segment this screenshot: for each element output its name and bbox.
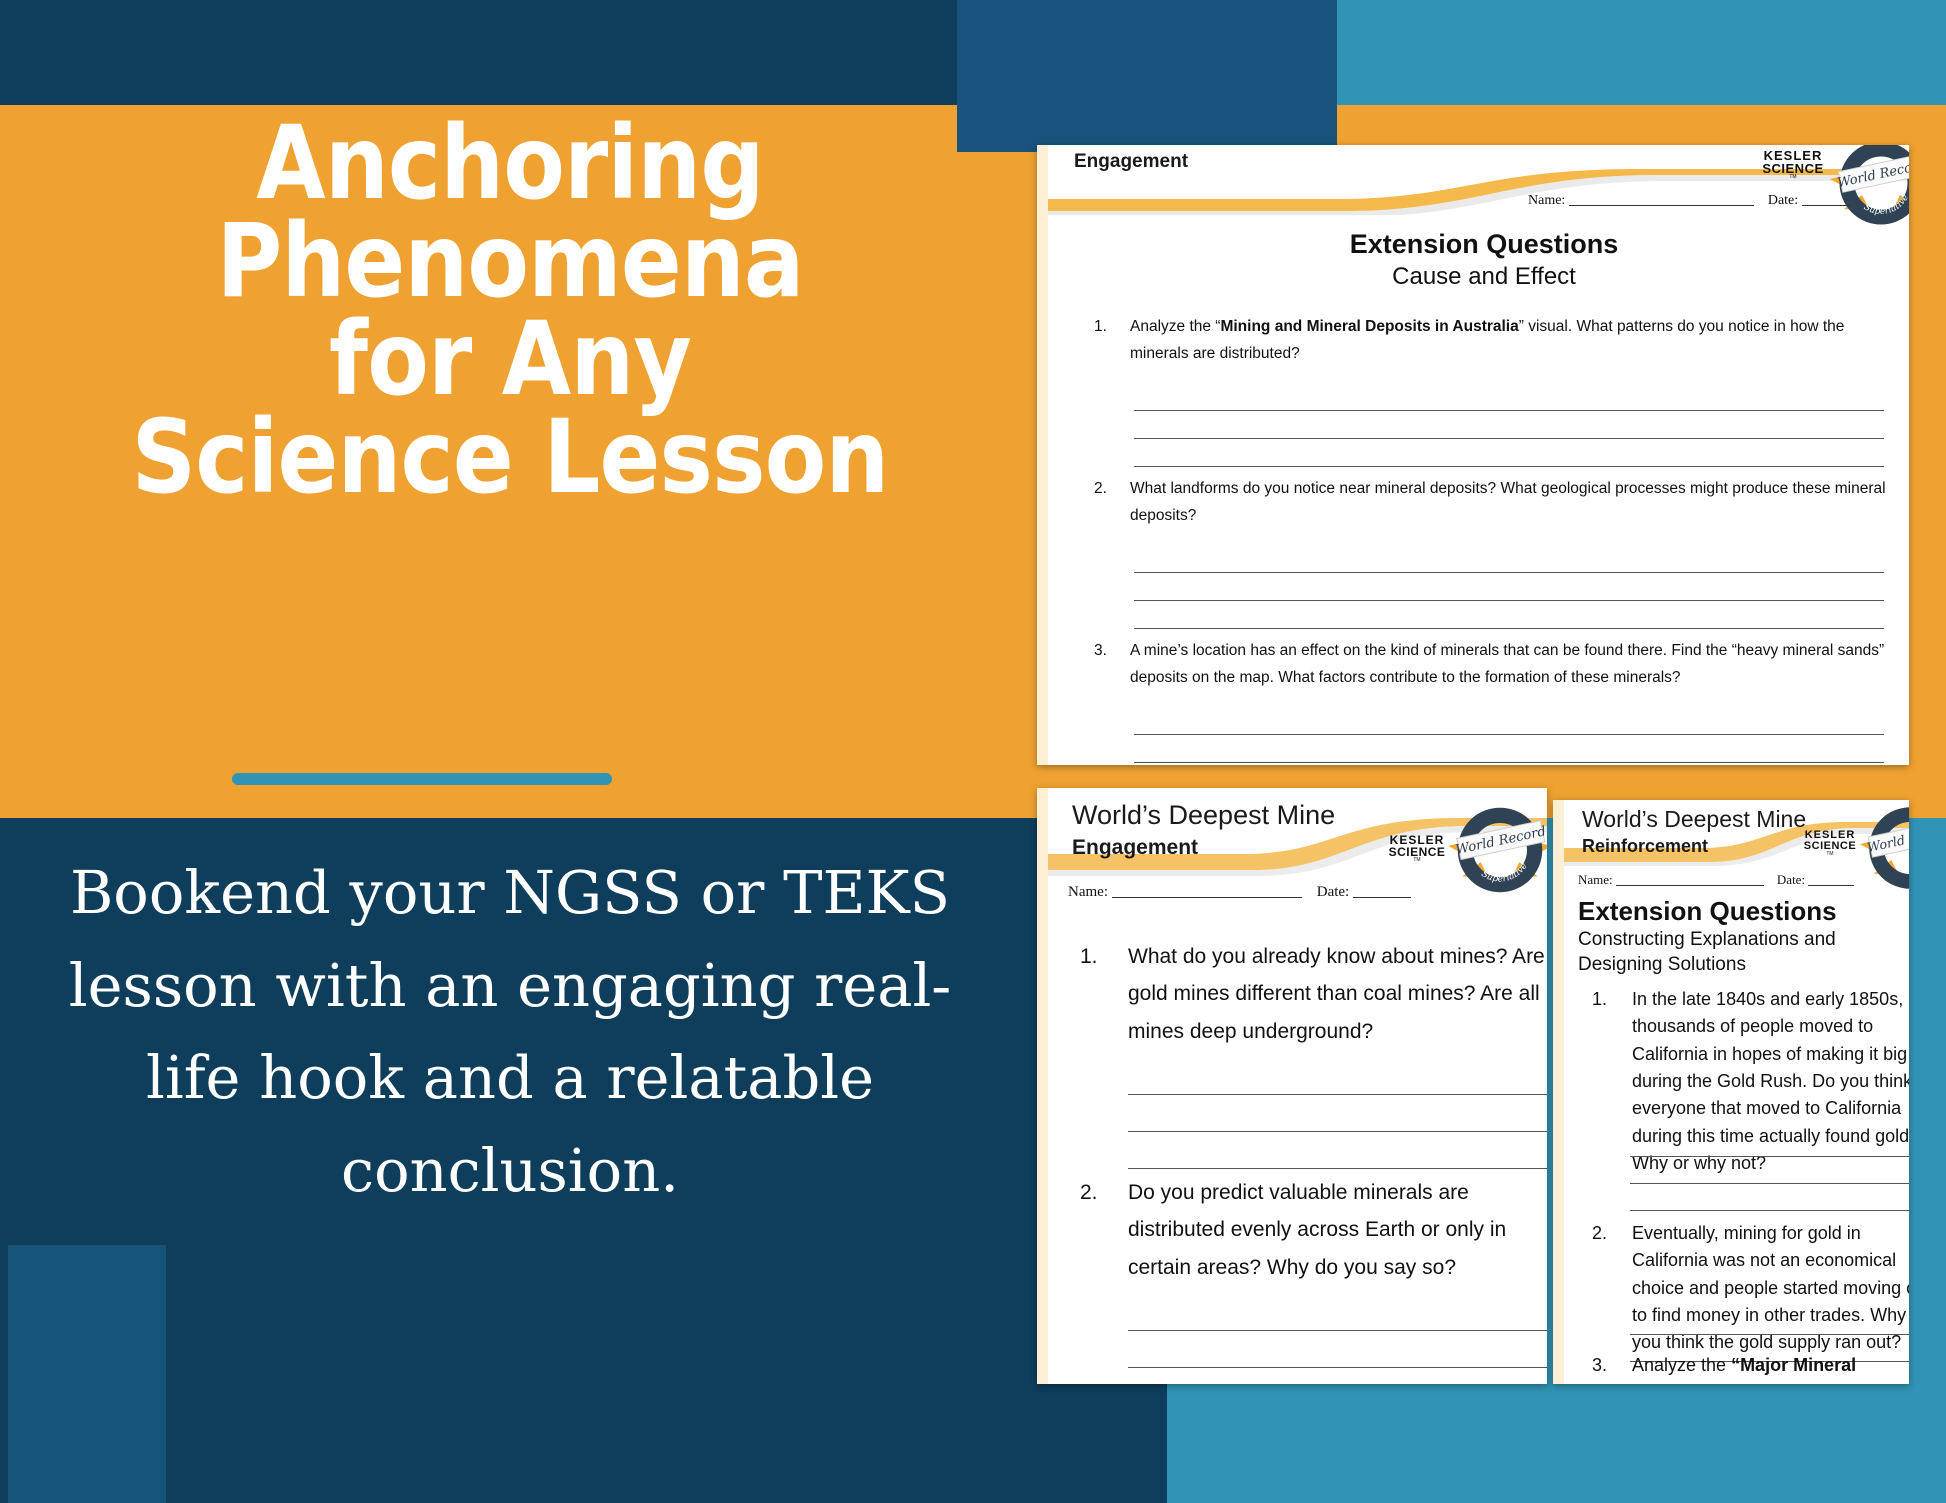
worksheet-section-label: Engagement — [1074, 151, 1188, 173]
worksheet-heading: Extension Questions — [1048, 229, 1909, 260]
worksheet-engagement-cause-effect[interactable]: Engagement KESLER SCIENCE TM Superlative… — [1037, 145, 1909, 765]
answer-lines[interactable] — [1630, 1130, 1909, 1211]
worksheet-deepest-mine-engagement[interactable]: World’s Deepest Mine Engagement KESLER S… — [1037, 788, 1547, 1384]
page-title-line-1: Phenomena — [96, 213, 923, 311]
name-date-row: Name: Date: — [1068, 884, 1411, 901]
page-title-line-2: for Any — [96, 311, 923, 409]
question-item: 1. What do you already know about mines?… — [1080, 938, 1547, 1050]
question-item: 3. Analyze the “Major Mineral Deposits i… — [1592, 1352, 1909, 1384]
name-input-rule[interactable] — [1616, 885, 1764, 886]
promo-subtitle: Bookend your NGSS or TEKS lesson with an… — [50, 847, 970, 1218]
question-text: Do you predict valuable minerals are dis… — [1080, 1174, 1547, 1286]
worksheet-subheading: Cause and Effect — [1048, 263, 1909, 291]
answer-lines[interactable] — [1128, 1294, 1547, 1368]
worksheet-subheading: Constructing Explanations and Designing … — [1578, 928, 1908, 977]
question-text: What do you already know about mines? Ar… — [1080, 938, 1547, 1050]
answer-lines[interactable] — [1134, 383, 1884, 467]
name-date-row: Name: Date: — [1578, 872, 1854, 888]
worksheet-section-label: Engagement — [1072, 836, 1198, 860]
question-number: 2. — [1592, 1220, 1607, 1247]
worksheet-title: World’s Deepest Mine — [1582, 806, 1806, 833]
date-label: Date: — [1768, 193, 1798, 208]
name-input-rule[interactable] — [1569, 205, 1754, 206]
question-item: 1. Analyze the “Mining and Mineral Depos… — [1094, 313, 1894, 367]
answer-lines[interactable] — [1134, 545, 1884, 629]
date-input-rule[interactable] — [1808, 885, 1854, 886]
worksheet-section-label: Reinforcement — [1582, 836, 1708, 857]
question-item: 2. Do you predict valuable minerals are … — [1080, 1174, 1547, 1286]
name-label: Name: — [1068, 884, 1108, 900]
worksheet-deepest-mine-reinforcement[interactable]: World’s Deepest Mine Reinforcement KESLE… — [1553, 800, 1909, 1384]
name-label: Name: — [1578, 872, 1613, 887]
world-record-badge: Superlatives World Record — [1444, 804, 1547, 900]
answer-lines[interactable] — [1128, 1058, 1547, 1169]
date-label: Date: — [1777, 872, 1805, 887]
worksheet-title: World’s Deepest Mine — [1072, 800, 1335, 831]
question-text: What landforms do you notice near minera… — [1094, 475, 1894, 529]
name-input-rule[interactable] — [1112, 897, 1302, 898]
question-number: 3. — [1094, 637, 1107, 664]
worksheet-heading: Extension Questions — [1578, 896, 1837, 927]
question-text: Analyze the “Major Mineral Deposits in t… — [1592, 1352, 1909, 1384]
name-date-row: Name: Date: — [1528, 193, 1850, 209]
question-number: 1. — [1592, 986, 1607, 1013]
date-label: Date: — [1317, 884, 1349, 900]
question-text: Analyze the “Mining and Mineral Deposits… — [1094, 313, 1894, 367]
date-input-rule[interactable] — [1353, 897, 1411, 898]
page-title-line-3: Science Lesson — [96, 409, 923, 507]
question-text: A mine’s location has an effect on the k… — [1094, 637, 1894, 691]
question-item: 2. What landforms do you notice near min… — [1094, 475, 1894, 529]
page-title-line-0: Anchoring — [96, 115, 923, 213]
kesler-science-logo: KESLER SCIENCE TM — [1748, 149, 1838, 180]
question-number: 3. — [1592, 1352, 1607, 1379]
date-input-rule[interactable] — [1802, 205, 1850, 206]
title-divider — [232, 773, 612, 785]
promo-panel: AnchoringPhenomenafor AnyScience Lesson … — [0, 105, 1020, 1503]
name-label: Name: — [1528, 193, 1565, 208]
question-item: 3. A mine’s location has an effect on th… — [1094, 637, 1894, 691]
world-record-badge: Superlatives World Record — [1826, 145, 1909, 231]
page-title: AnchoringPhenomenafor AnyScience Lesson — [96, 115, 923, 507]
world-record-badge: World Record — [1856, 804, 1909, 896]
answer-lines[interactable] — [1134, 707, 1884, 763]
question-number: 1. — [1080, 938, 1098, 975]
question-number: 2. — [1094, 475, 1107, 502]
question-number: 2. — [1080, 1174, 1098, 1211]
question-number: 1. — [1094, 313, 1107, 340]
